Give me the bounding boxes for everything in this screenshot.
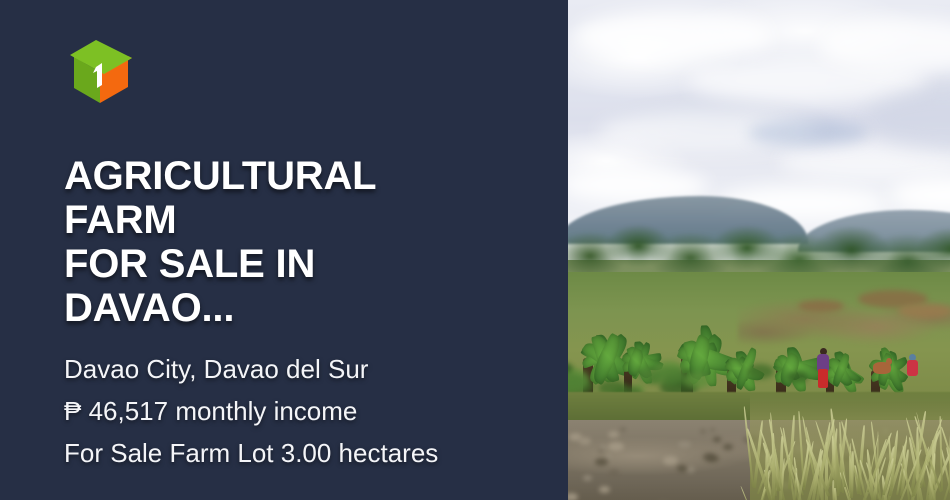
road-pebble — [663, 456, 679, 465]
road-pebble — [607, 454, 612, 458]
listing-income: ₱ 46,517 monthly income — [64, 394, 528, 430]
road-pebble — [700, 429, 706, 434]
cloud — [573, 10, 773, 62]
road-pebble — [599, 486, 610, 493]
listing-location: Davao City, Davao del Sur — [64, 352, 528, 388]
road-pebble — [677, 465, 687, 472]
soil-patch — [898, 304, 950, 318]
dog — [873, 362, 891, 374]
road-pebble — [608, 442, 624, 451]
road-pebble — [608, 431, 619, 438]
road-pebble — [598, 449, 603, 453]
road-pebble — [609, 469, 619, 475]
listing-offer: For Sale Farm Lot 3.00 hectares — [64, 436, 528, 472]
person-torso — [907, 360, 918, 376]
person-crouching — [906, 358, 919, 380]
road-pebble — [707, 455, 720, 463]
foliage-blob — [747, 364, 774, 379]
road-pebble — [620, 427, 626, 432]
tall-grass — [750, 392, 950, 500]
road-pebble — [568, 493, 578, 500]
page-title: AGRICULTURAL FARM FOR SALE IN DAVAO... — [64, 154, 494, 330]
sky-haze — [748, 120, 868, 146]
road-pebble — [583, 475, 592, 481]
listing-info-panel: AGRICULTURAL FARM FOR SALE IN DAVAO... D… — [0, 0, 568, 500]
listing-details: Davao City, Davao del Sur ₱ 46,517 month… — [64, 352, 528, 472]
road-pebble — [686, 466, 695, 472]
foliage-blob — [787, 371, 808, 383]
brand-logo[interactable] — [66, 34, 142, 110]
road-pebble — [678, 441, 691, 449]
road-pebble — [579, 437, 591, 445]
property-listing-card: AGRICULTURAL FARM FOR SALE IN DAVAO... D… — [0, 0, 950, 500]
house-one-logo-icon — [66, 34, 142, 110]
person-walking — [815, 354, 831, 388]
foliage-blob — [653, 367, 685, 385]
foliage-blob — [683, 372, 712, 388]
property-photo — [568, 0, 950, 500]
road-pebble — [723, 444, 733, 451]
road-pebble — [710, 428, 716, 433]
person-legs — [818, 369, 828, 388]
road-pebble — [713, 437, 721, 443]
road-pebble — [595, 458, 608, 466]
